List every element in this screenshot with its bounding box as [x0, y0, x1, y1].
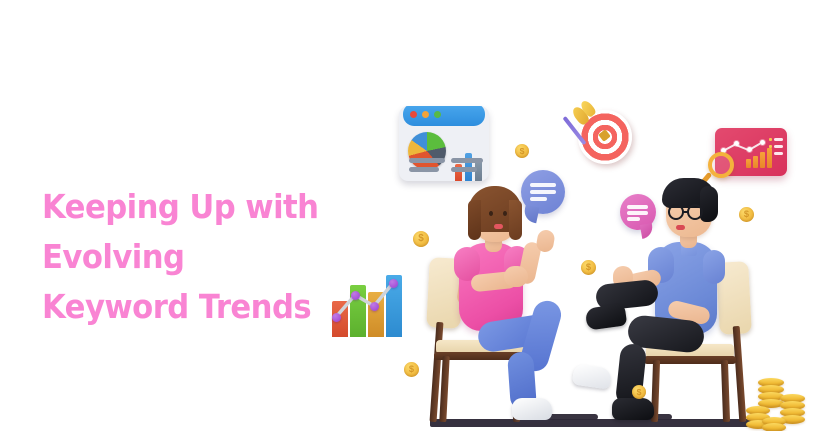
text-line-4: [451, 167, 477, 172]
chair-leg-right-back: [733, 326, 747, 422]
trend-dot-4: [389, 279, 398, 288]
text-line-1: [409, 158, 445, 163]
pie-chart: [408, 132, 446, 170]
bubble-line-1: [530, 183, 556, 187]
speech-bubble-blue-tail: [522, 205, 539, 224]
woman-shoe-right: [572, 363, 613, 389]
coin-icon: [632, 385, 646, 399]
window-dot-green: [434, 111, 441, 118]
woman-eye-left: [489, 211, 493, 216]
legend-label-2: [774, 145, 783, 148]
bubble-line-1: [627, 205, 648, 209]
line-point-3: [747, 147, 752, 152]
chair-leg-left-front: [439, 356, 449, 422]
floor-line: [430, 419, 752, 427]
glasses-lens-right: [687, 204, 703, 220]
text-line-3: [451, 158, 483, 163]
legend-label-1: [774, 138, 783, 141]
line-point-2: [734, 141, 739, 146]
trend-dot-3: [370, 302, 379, 311]
man-mouth: [676, 225, 685, 230]
seo-bar-2: [753, 156, 758, 168]
woman-hand-left: [504, 266, 528, 287]
coin-disc: [762, 423, 786, 431]
woman-hand-right: [535, 229, 556, 254]
window-dot-red: [410, 111, 417, 118]
banner-canvas: Keeping Up with Evolving Keyword Trends: [0, 0, 813, 431]
bubble-line-3: [627, 217, 640, 221]
line-point-4: [760, 140, 765, 145]
coin-icon: [515, 144, 529, 158]
trend-dot-2: [351, 291, 360, 300]
trend-dot-1: [332, 313, 341, 322]
analytics-dashboard-icon: [399, 106, 489, 181]
legend-label-3: [774, 152, 783, 155]
glasses-bridge: [683, 211, 688, 213]
man-sleeve-right: [703, 250, 725, 284]
glasses-lens-left: [668, 204, 684, 220]
woman-hair-side-right: [509, 200, 522, 240]
window-dot-orange: [422, 111, 429, 118]
man-hair-side: [700, 186, 718, 222]
legend-square-1: [769, 138, 772, 141]
seo-bar-3: [760, 152, 765, 168]
text-line-2: [409, 167, 439, 172]
growth-bar-chart-icon: [330, 275, 402, 337]
bubble-line-2: [627, 211, 648, 215]
woman-mouth: [494, 224, 503, 229]
chair-leg-right-right: [721, 360, 730, 422]
coin-icon: [581, 260, 596, 275]
speech-bubble-pink-tail: [640, 223, 654, 239]
coin-icon: [404, 362, 419, 377]
coin-icon: [739, 207, 754, 222]
gold-coin-stack: [748, 376, 808, 431]
woman-eye-right: [503, 211, 507, 216]
man-shoe-crossed: [585, 303, 628, 330]
bubble-line-2: [530, 190, 556, 194]
magnifier-icon: [708, 152, 734, 178]
woman-shoe-left: [512, 398, 552, 420]
seo-bar-1: [746, 159, 751, 168]
woman-hair-side-left: [468, 200, 481, 240]
man-shoe-standing: [612, 398, 654, 420]
bubble-line-3: [530, 197, 547, 201]
coin-icon: [413, 231, 429, 247]
seo-bar-4: [767, 148, 772, 168]
